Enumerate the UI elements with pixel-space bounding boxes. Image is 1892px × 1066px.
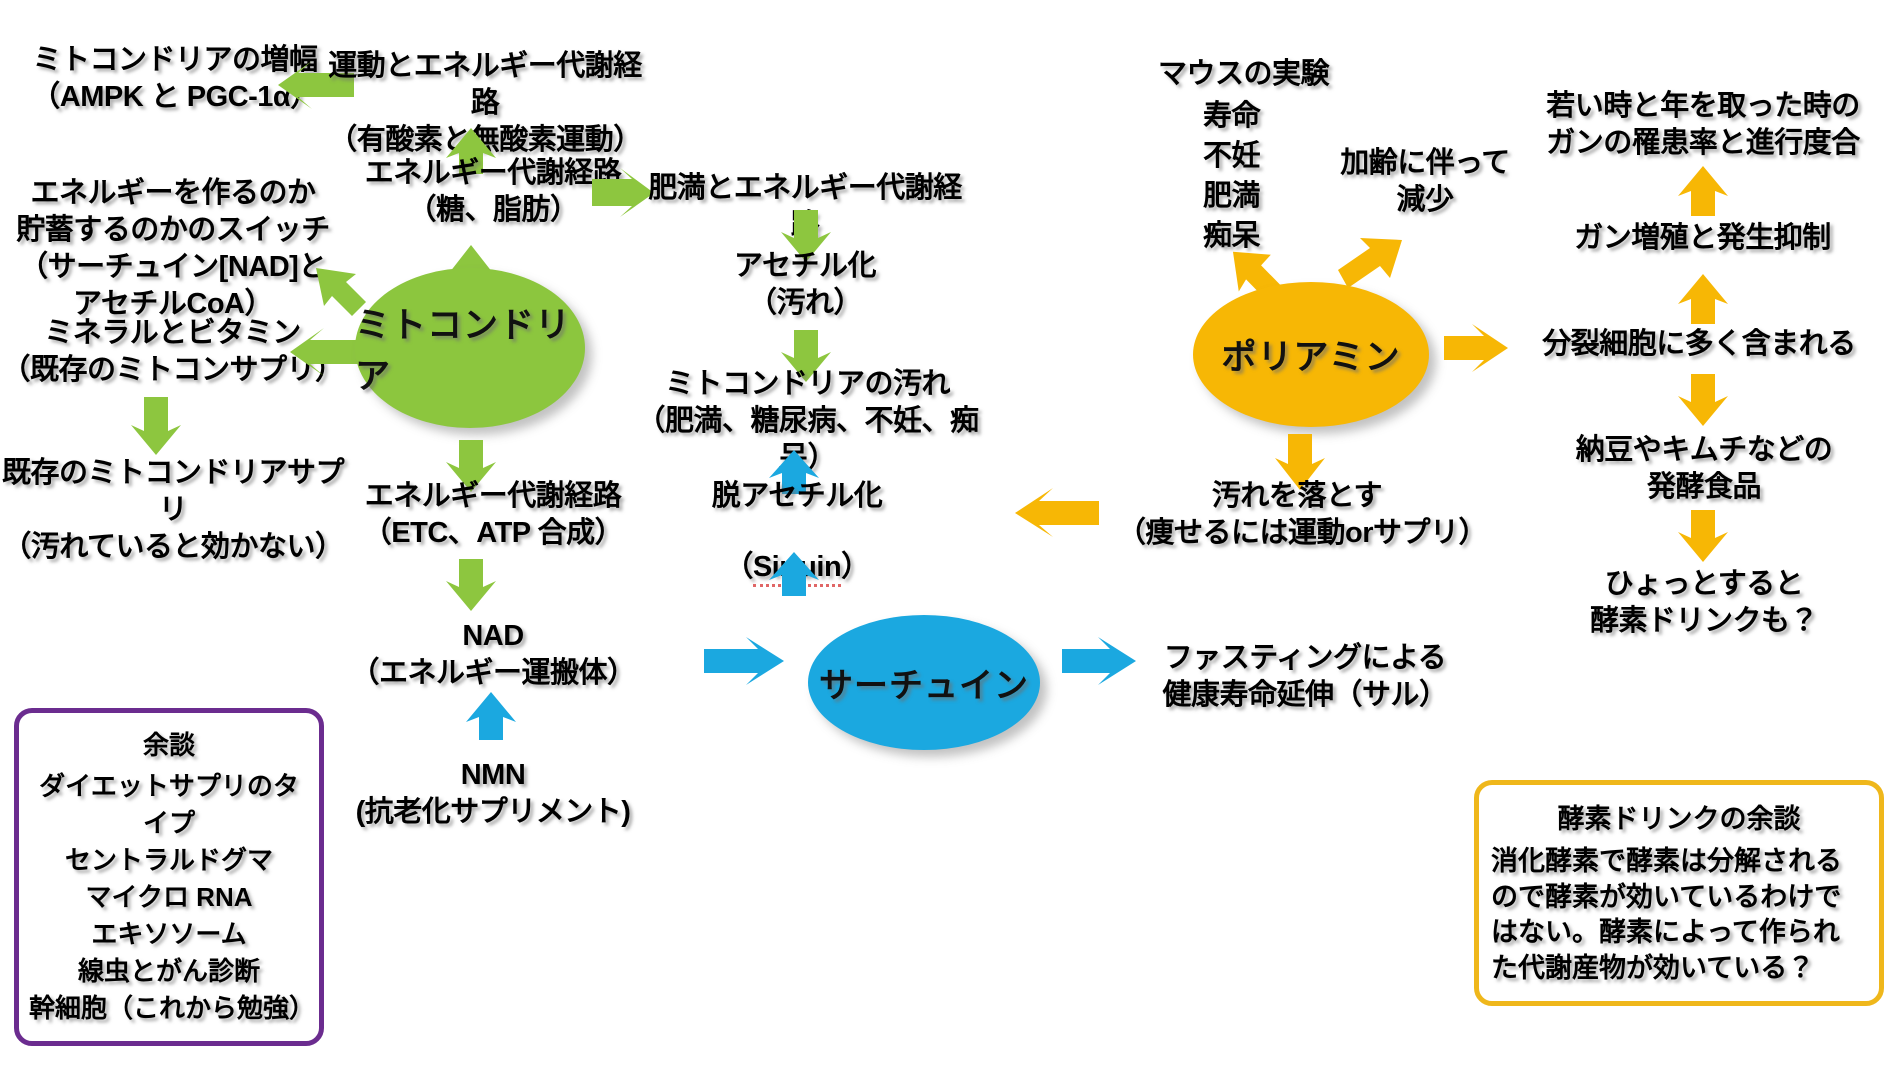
aside-purple-item-4: 線虫とがん診断 bbox=[29, 951, 309, 988]
label-obesity-energy-path: 肥満とエネルギー代謝経路 bbox=[640, 170, 970, 244]
arrow-etc-to-nad bbox=[443, 557, 499, 613]
label-energy-switch: エネルギーを作るのか 貯蓄するのかのスイッチ （サーチュイン[NAD]と アセチ… bbox=[8, 175, 338, 323]
label-energy-path-sugar-fat: エネルギー代謝経路 （糖、脂肪） bbox=[343, 155, 643, 229]
arrow-fermented-to-maybe bbox=[1675, 508, 1731, 564]
aside-purple-item-0: ダイエットサプリのタイプ bbox=[29, 766, 309, 840]
arrow-nad-to-sirtuin bbox=[700, 635, 792, 685]
label-acetylation: アセチル化 （汚れ） bbox=[680, 248, 930, 322]
mitochondria-ellipse-label: ミトコンドリア bbox=[355, 297, 585, 399]
arrow-remove-dirt-to-deacetyl bbox=[1005, 483, 1103, 545]
label-mouse-item-0: 寿命 bbox=[1203, 98, 1343, 135]
aside-yellow-body: 消化酵素で酵素は分解される ので酵素が効いているわけで はない。酵素によって作ら… bbox=[1491, 844, 1867, 987]
label-aging-decrease: 加齢に伴って 減少 bbox=[1300, 145, 1550, 219]
label-mineral-vitamin: ミネラルとビタミン （既存のミトコンサプリ） bbox=[0, 315, 345, 389]
label-deacetylation-line2: （Sirtuin） bbox=[672, 512, 922, 586]
label-maybe-enzyme-drink: ひょっとすると 酵素ドリンクも？ bbox=[1520, 566, 1888, 640]
polyamine-ellipse-label: ポリアミン bbox=[1221, 329, 1400, 380]
label-nmn: NMN (抗老化サプリメント) bbox=[348, 757, 638, 831]
label-deacetylation-line1: 脱アセチル化 bbox=[672, 478, 922, 515]
label-exercise-energy: 運動とエネルギー代謝経路 （有酸素と無酸素運動） bbox=[325, 48, 645, 159]
label-cancer-rate: 若い時と年を取った時の ガンの罹患率と進行度合 bbox=[1518, 88, 1888, 162]
label-nad: NAD （エネルギー運搬体） bbox=[348, 618, 638, 692]
label-existing-mito-supplement: 既存のミトコンドリアサプリ （汚れていると効かない） bbox=[0, 455, 348, 566]
label-energy-path-etc-atp: エネルギー代謝経路 （ETC、ATP 合成） bbox=[343, 478, 643, 552]
polyamine-ellipse[interactable]: ポリアミン bbox=[1193, 282, 1429, 427]
aside-yellow-box: 酵素ドリンクの余談 消化酵素で酵素は分解される ので酵素が効いているわけで はな… bbox=[1474, 780, 1884, 1006]
aside-purple-title: 余談 bbox=[29, 725, 309, 762]
arrow-sirtuin-to-fasting bbox=[1058, 635, 1144, 685]
arrow-suppress-to-cancer-rate bbox=[1675, 164, 1731, 218]
label-mito-amplify: ミトコンドリアの増幅 （AMPK と PGC-1α） bbox=[10, 42, 340, 116]
arrow-mineral-to-existing-supp bbox=[128, 395, 184, 457]
label-fasting: ファスティングによる 健康寿命延伸（サル） bbox=[1145, 640, 1465, 714]
aside-purple-box: 余談 ダイエットサプリのタイプ セントラルドグマ マイクロ RNA エキソソーム… bbox=[14, 708, 324, 1046]
diagram-canvas: ミトコンドリアの増幅 （AMPK と PGC-1α） 運動とエネルギー代謝経路 … bbox=[0, 0, 1892, 1066]
label-mito-dirt: ミトコンドリアの汚れ （肥満、糖尿病、不妊、痴呆） bbox=[620, 366, 995, 477]
label-cancer-suppress: ガン増殖と発生抑制 bbox=[1520, 220, 1885, 257]
aside-yellow-title: 酵素ドリンクの余談 bbox=[1491, 797, 1867, 836]
sirtuin-ellipse[interactable]: サーチュイン bbox=[808, 615, 1040, 750]
arrow-nmn-to-nad bbox=[463, 690, 519, 742]
sirtuin-word: Sirtuin bbox=[753, 551, 841, 587]
arrow-dividing-to-fermented bbox=[1675, 372, 1731, 428]
paren-close: ） bbox=[841, 551, 870, 583]
aside-purple-item-5: 幹細胞（これから勉強） bbox=[29, 988, 309, 1025]
mitochondria-ellipse[interactable]: ミトコンドリア bbox=[355, 268, 585, 428]
aside-purple-item-3: エキソソーム bbox=[29, 914, 309, 951]
sirtuin-ellipse-label: サーチュイン bbox=[819, 658, 1029, 707]
arrow-dividing-to-suppress bbox=[1675, 272, 1731, 326]
aside-purple-item-2: マイクロ RNA bbox=[29, 877, 309, 914]
label-mouse-experiment-title: マウスの実験 bbox=[1158, 56, 1418, 93]
label-mouse-item-3: 痴呆 bbox=[1203, 218, 1343, 255]
label-remove-dirt: 汚れを落とす （痩せるには運動orサプリ） bbox=[1117, 478, 1477, 552]
label-dividing-cells: 分裂細胞に多く含まれる bbox=[1510, 326, 1888, 363]
aside-purple-item-1: セントラルドグマ bbox=[29, 840, 309, 877]
arrow-polyamine-to-dividing bbox=[1440, 322, 1512, 372]
paren-open: （ bbox=[724, 551, 753, 583]
label-fermented-foods: 納豆やキムチなどの 発酵食品 bbox=[1520, 432, 1888, 506]
